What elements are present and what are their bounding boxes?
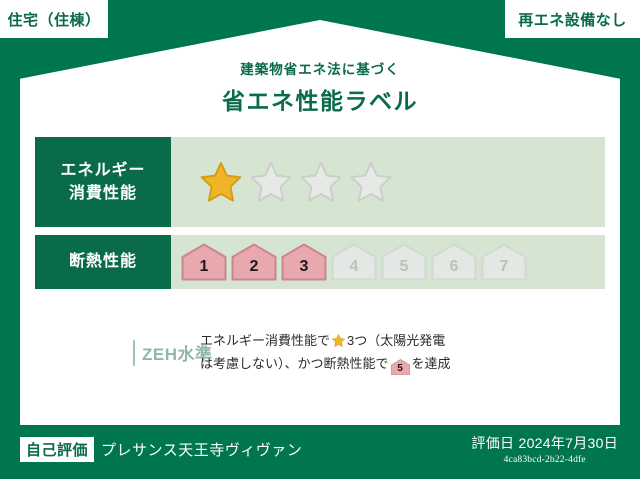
tag-renewable-energy: 再エネ設備なし [505,0,640,38]
footer: 自己評価 プレサンス天王寺ヴィヴァン 評価日 2024年7月30日 4ca83b… [0,425,640,479]
row-body-insulation: 1234567 [171,235,605,289]
energy-performance-label: 住宅（住棟） 再エネ設備なし 建築物省エネ法に基づく 省エネ性能ラベル エネルギ… [0,0,640,479]
star-filled-icon [199,160,243,204]
insulation-grade-scale: 1234567 [171,243,527,281]
row-energy-consumption: エネルギー 消費性能 [35,137,605,227]
grade-chip-4: 4 [331,243,377,281]
grade-chip-3: 3 [281,243,327,281]
grade-chip-value: 7 [500,258,509,281]
star-empty-icon [249,160,293,204]
evaluation-id: 4ca83bcd-2b22-4dfe [471,455,618,465]
grade-chip-6: 6 [431,243,477,281]
grade-chip-2: 2 [231,243,277,281]
row-label-energy: エネルギー 消費性能 [35,137,171,227]
grade-chip-value: 5 [400,258,409,281]
grade-chip-value: 3 [300,258,309,281]
inline-grade-chip: 5 [391,359,410,375]
grade-chip-value: 1 [200,258,209,281]
tag-building-type: 住宅（住棟） [0,0,108,38]
title-block: 建築物省エネ法に基づく 省エネ性能ラベル [0,58,640,116]
building-name: プレサンス天王寺ヴィヴァン [101,439,302,460]
self-evaluation-block: 自己評価 プレサンス天王寺ヴィヴァン [20,437,302,462]
zeh-desc-1a: エネルギー消費性能で [200,333,330,348]
zeh-desc-2b: を達成 [412,356,451,371]
row-label-energy-line2: 消費性能 [69,182,137,205]
inline-grade-value: 5 [391,359,410,379]
zeh-desc-2a: は考慮しない）、かつ断熱性能で [200,356,389,371]
self-evaluation-badge: 自己評価 [20,437,94,462]
row-label-insulation: 断熱性能 [35,235,171,289]
zeh-standard-mark: ZEH水準 [35,340,200,366]
rating-rows: エネルギー 消費性能 断熱性能 1234567 [35,137,605,297]
zeh-desc-1b: 3つ（太陽光発電 [347,333,445,348]
grade-chip-value: 6 [450,258,459,281]
evaluation-date-block: 評価日 2024年7月30日 4ca83bcd-2b22-4dfe [471,433,618,465]
inline-star-icon [331,333,346,348]
star-empty-icon [299,160,343,204]
row-body-energy [171,137,605,227]
grade-chip-7: 7 [481,243,527,281]
row-label-energy-line1: エネルギー [60,159,145,182]
row-insulation: 断熱性能 1234567 [35,235,605,289]
title-subtitle: 建築物省エネ法に基づく [0,58,640,78]
zeh-description-line1: エネルギー消費性能で3つ（太陽光発電 [200,330,451,353]
star-empty-icon [349,160,393,204]
row-label-insulation-line1: 断熱性能 [69,250,137,273]
page-title: 省エネ性能ラベル [0,82,640,116]
star-rating [171,160,393,204]
grade-chip-1: 1 [181,243,227,281]
zeh-description: エネルギー消費性能で3つ（太陽光発電 は考慮しない）、かつ断熱性能で5を達成 [200,330,451,376]
evaluation-date: 評価日 2024年7月30日 [471,433,618,453]
grade-chip-5: 5 [381,243,427,281]
chart-square-icon [133,340,135,366]
zeh-description-line2: は考慮しない）、かつ断熱性能で5を達成 [200,353,451,376]
grade-chip-value: 2 [250,258,259,281]
zeh-note: ZEH水準 エネルギー消費性能で3つ（太陽光発電 は考慮しない）、かつ断熱性能で… [35,330,605,376]
grade-chip-value: 4 [350,258,359,281]
